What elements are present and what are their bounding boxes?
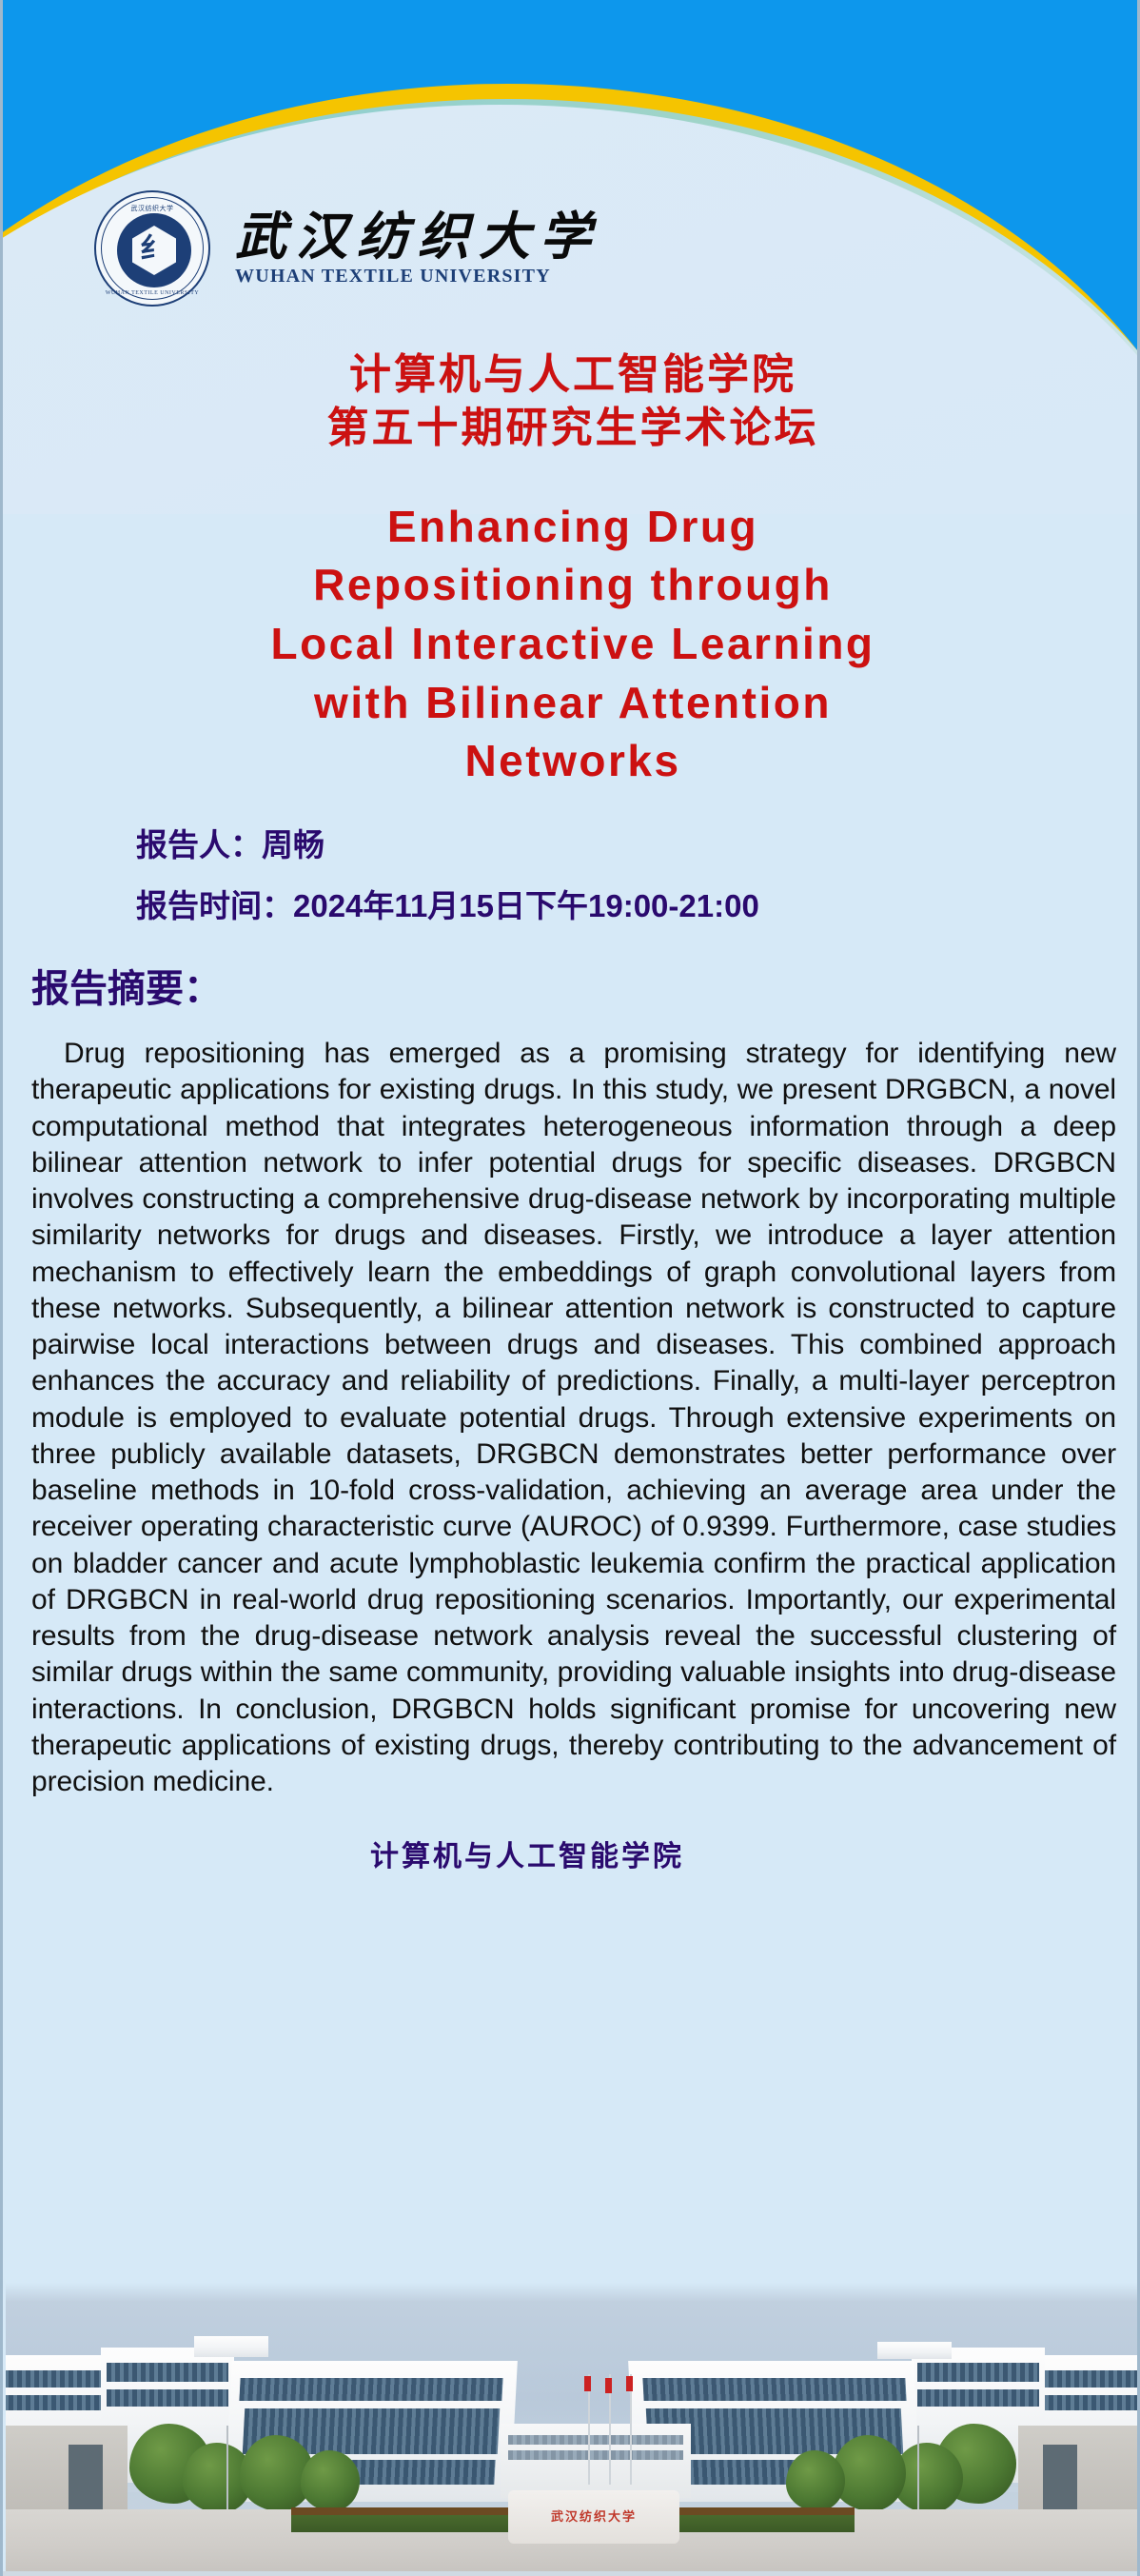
photo-glass-far-left-b [6, 2395, 114, 2410]
talk-title-line-5: Networks [60, 732, 1086, 791]
photo-glass-left-b [107, 2389, 228, 2407]
seal-ring-text-cn: 武汉纺织大学 [96, 204, 208, 213]
chinese-heading-block: 计算机与人工智能学院 第五十期研究生学术论坛 [3, 348, 1140, 456]
talk-title: Enhancing Drug Repositioning through Loc… [3, 498, 1140, 791]
university-seal-icon: 武汉纺织大学 纟 WUHAN TEXTILE UNIVERSITY [94, 190, 210, 307]
photo-tree-left-4 [301, 2450, 360, 2511]
talk-title-line-3: Local Interactive Learning [60, 615, 1086, 674]
photo-flag-1 [584, 2376, 591, 2391]
photo-glass-far-right-b [1032, 2395, 1140, 2410]
talk-title-line-1: Enhancing Drug [60, 498, 1086, 557]
photo-hedge-left [291, 2513, 520, 2532]
seal-glyph: 纟 [140, 235, 168, 264]
campus-photo: 武汉纺织大学 [6, 2283, 1140, 2573]
logo-wordmark: 武汉纺织大学 WUHAN TEXTILE UNIVERSITY [235, 209, 600, 287]
school-name-heading: 计算机与人工智能学院 [3, 348, 1140, 402]
photo-glass-left-main-a [239, 2378, 502, 2401]
photo-glass-center-b [508, 2450, 683, 2460]
photo-glass-far-left-a [6, 2370, 114, 2388]
time-line: 报告时间：2024年11月15日下午19:00-21:00 [136, 890, 1140, 923]
photo-glass-far-right-a [1032, 2370, 1140, 2388]
photo-flag-2 [605, 2378, 612, 2393]
poster-bottom-strip [3, 2571, 1140, 2576]
abstract-heading: 报告摘要： [3, 958, 1140, 1013]
talk-meta-block: 报告人：周畅 报告时间：2024年11月15日下午19:00-21:00 [3, 829, 1140, 923]
photo-glass-left-a [107, 2363, 228, 2382]
photo-mulch-left [291, 2507, 520, 2515]
photo-top-fade [6, 2283, 1140, 2302]
photo-lamp-left [226, 2426, 228, 2517]
department-footer: 计算机与人工智能学院 [3, 1833, 1140, 1874]
speaker-line: 报告人：周畅 [136, 829, 1140, 862]
talk-title-line-4: with Bilinear Attention [60, 674, 1086, 733]
photo-glass-center-a [508, 2435, 683, 2445]
photo-campus-stone: 武汉纺织大学 [508, 2490, 679, 2544]
photo-campus-stone-text: 武汉纺织大学 [508, 2507, 679, 2525]
seal-ring-text-en: WUHAN TEXTILE UNIVERSITY [96, 290, 208, 296]
photo-glass-right-a [917, 2363, 1039, 2382]
poster-canvas: 武汉纺织大学 纟 WUHAN TEXTILE UNIVERSITY 武汉纺织大学… [0, 0, 1140, 2576]
talk-title-line-2: Repositioning through [60, 556, 1086, 615]
seal-core: 纟 [117, 213, 191, 287]
wordmark-english: WUHAN TEXTILE UNIVERSITY [235, 266, 600, 287]
abstract-paragraph: Drug repositioning has emerged as a prom… [31, 1038, 1116, 1797]
poster-content: 武汉纺织大学 纟 WUHAN TEXTILE UNIVERSITY 武汉纺织大学… [3, 0, 1140, 1874]
forum-name-heading: 第五十期研究生学术论坛 [3, 402, 1140, 455]
wordmark-chinese: 武汉纺织大学 [235, 209, 600, 264]
abstract-text: Drug repositioning has emerged as a prom… [3, 1036, 1140, 1800]
photo-glass-right-b [917, 2389, 1039, 2407]
photo-gate-panel-left [69, 2445, 103, 2511]
photo-roof-box-left [194, 2336, 268, 2357]
photo-roof-box-right [877, 2342, 952, 2359]
photo-lamp-right [917, 2426, 919, 2517]
photo-flag-3 [626, 2376, 633, 2391]
photo-glass-right-main-a [642, 2378, 906, 2401]
photo-tree-right-4 [786, 2450, 845, 2511]
university-logo-lockup: 武汉纺织大学 纟 WUHAN TEXTILE UNIVERSITY 武汉纺织大学… [3, 0, 1140, 307]
photo-gate-panel-right [1043, 2445, 1077, 2511]
